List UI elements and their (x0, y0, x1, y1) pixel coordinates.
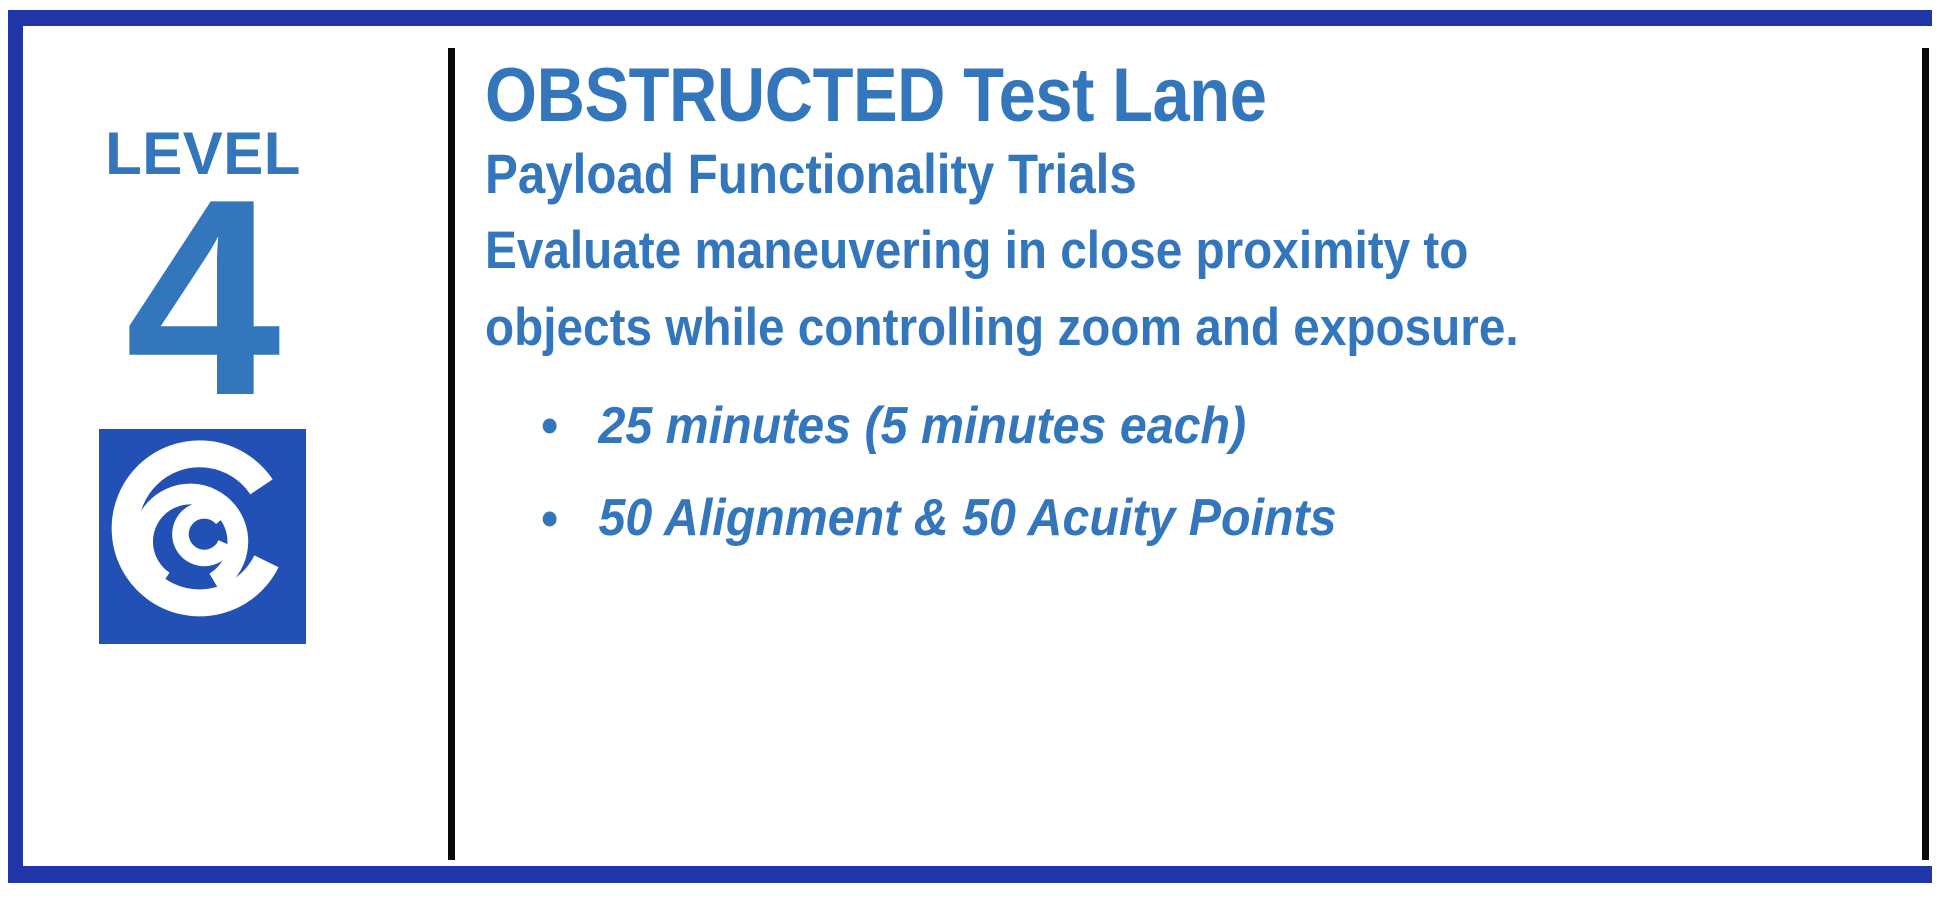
level-number: 4 (53, 158, 353, 438)
level-column: LEVEL 4 (53, 36, 433, 856)
lane-subtitle: Payload Functionality Trials (485, 143, 1735, 206)
lane-bullet-list: 25 minutes (5 minutes each) 50 Alignment… (485, 380, 1905, 565)
card-border-bottom (8, 866, 1932, 883)
vertical-divider-right (1922, 48, 1929, 860)
level-card: LEVEL 4 OBSTRUCTED Test Lane Pa (8, 10, 1932, 883)
vertical-divider-left (448, 48, 455, 860)
list-item: 25 minutes (5 minutes each) (485, 380, 1806, 473)
lane-text-column: OBSTRUCTED Test Lane Payload Functionali… (485, 56, 1905, 565)
card-border-left (8, 10, 23, 883)
lane-description: Evaluate maneuvering in close proximity … (485, 213, 1646, 366)
card-border-top (8, 10, 1932, 26)
list-item: 50 Alignment & 50 Acuity Points (485, 472, 1806, 565)
list-item-label: 50 Alignment & 50 Acuity Points (598, 489, 1336, 547)
lane-title: OBSTRUCTED Test Lane (485, 56, 1735, 137)
bullet-dot-icon (543, 419, 557, 434)
card-content: LEVEL 4 OBSTRUCTED Test Lane Pa (23, 26, 1932, 866)
concentric-target-spiral-icon (99, 429, 306, 644)
level-icon-tile (99, 429, 306, 644)
list-item-label: 25 minutes (5 minutes each) (598, 397, 1246, 455)
bullet-dot-icon (543, 511, 557, 526)
